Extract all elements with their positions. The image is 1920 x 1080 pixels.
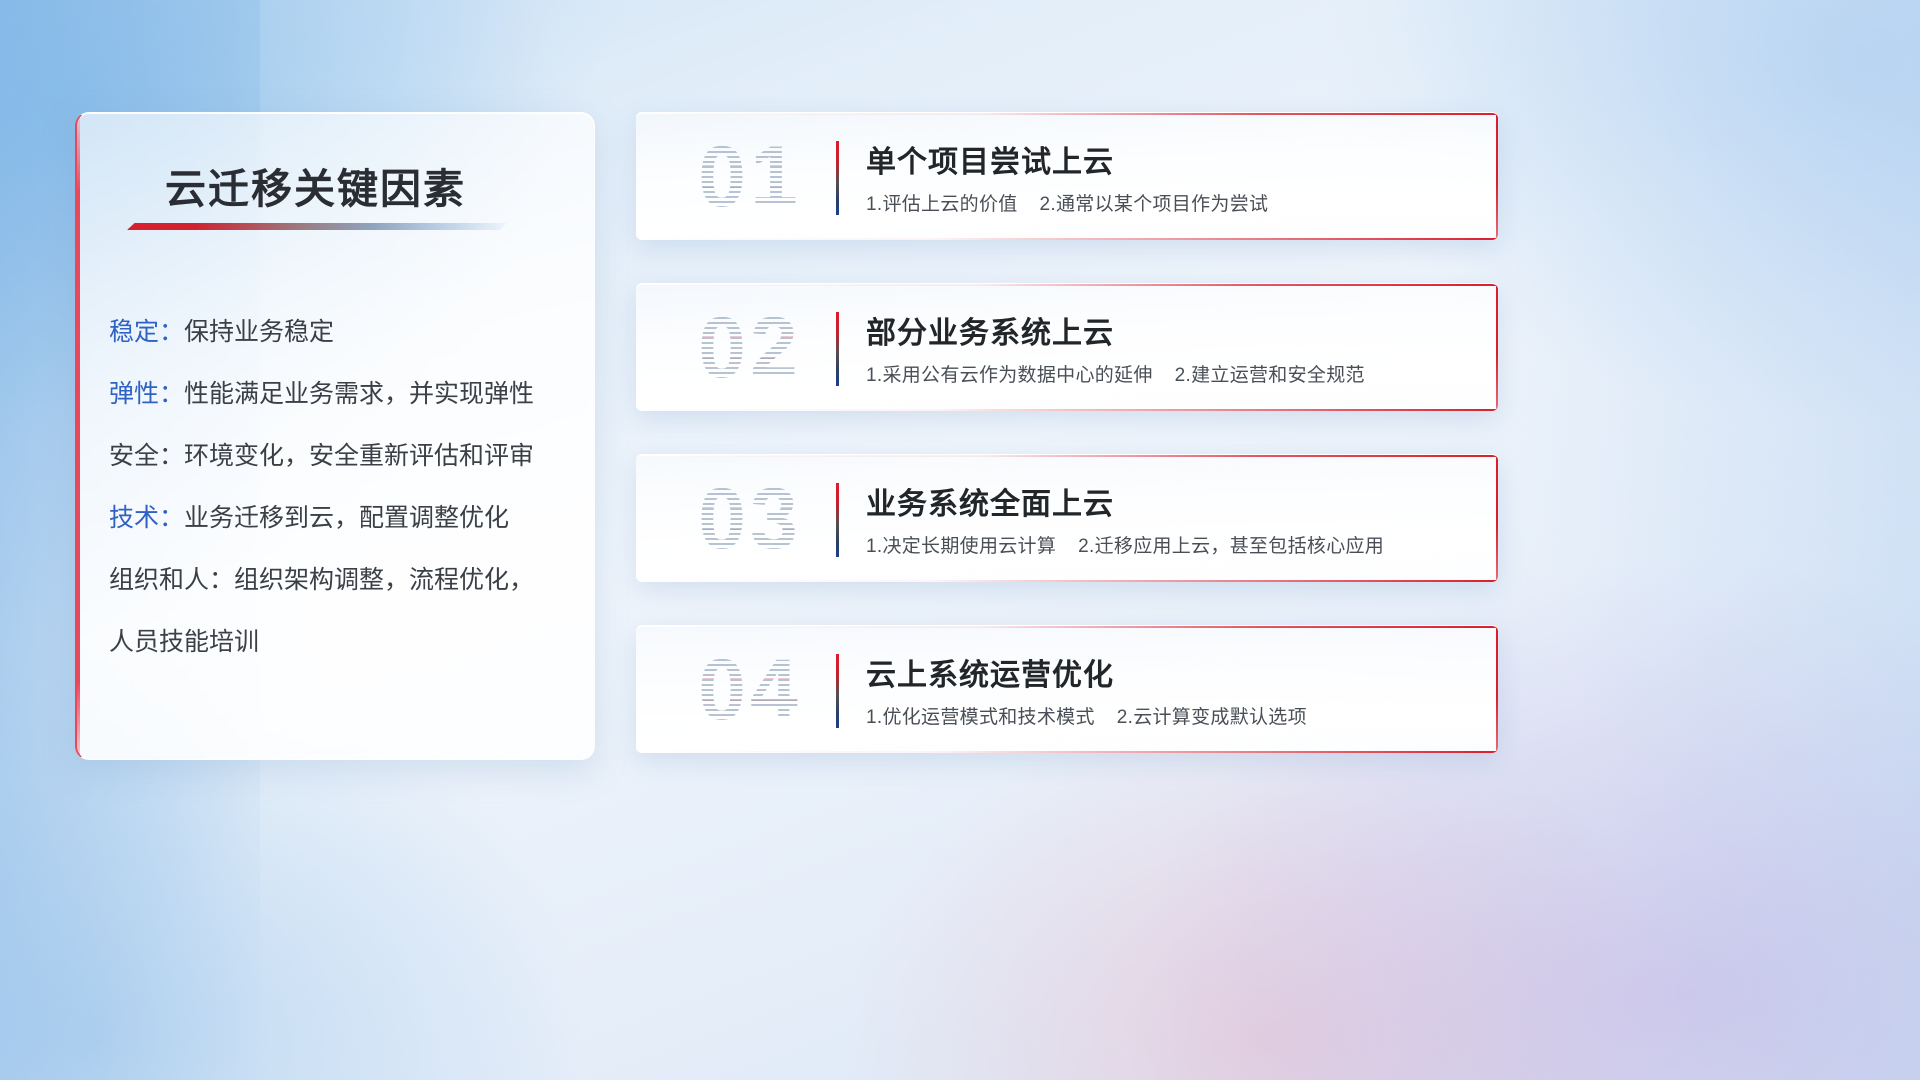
step-subtitle: 1.优化运营模式和技术模式2.云计算变成默认选项: [866, 702, 1307, 729]
page-title: 云迁移关键因素: [165, 155, 466, 215]
step-number: 03: [660, 463, 840, 575]
step-card-01[interactable]: 0101单个项目尝试上云1.评估上云的价值2.通常以某个项目作为尝试: [636, 112, 1498, 240]
card-accent-right-line: [1496, 113, 1498, 240]
factor-label: 稳定：: [109, 318, 184, 346]
step-point-2: 2.迁移应用上云，甚至包括核心应用: [1078, 536, 1384, 557]
step-card-02[interactable]: 0202部分业务系统上云1.采用公有云作为数据中心的延伸2.建立运营和安全规范: [636, 283, 1498, 411]
step-point-1: 1.优化运营模式和技术模式: [866, 707, 1095, 728]
factor-text: 业务迁移到云，配置调整优化: [184, 504, 509, 532]
factor-row: 稳定：保持业务稳定: [109, 301, 570, 363]
factor-row: 组织和人：组织架构调整，流程优化，: [109, 549, 570, 611]
card-accent-right-line: [1496, 284, 1498, 411]
step-point-2: 2.通常以某个项目作为尝试: [1040, 194, 1269, 215]
slide-root: 云迁移关键因素 稳定：保持业务稳定弹性：性能满足业务需求，并实现弹性安全：环境变…: [0, 0, 1920, 1080]
step-subtitle: 1.采用公有云作为数据中心的延伸2.建立运营和安全规范: [866, 360, 1365, 387]
factor-row: 技术：业务迁移到云，配置调整优化: [109, 487, 570, 549]
step-point-1: 1.采用公有云作为数据中心的延伸: [866, 365, 1153, 386]
step-card-04[interactable]: 0404云上系统运营优化1.优化运营模式和技术模式2.云计算变成默认选项: [636, 625, 1498, 753]
card-accent-right-line: [1496, 455, 1498, 582]
step-divider-line: [836, 483, 839, 557]
step-divider-line: [836, 141, 839, 215]
step-title: 云上系统运营优化: [866, 650, 1114, 694]
step-number: 02: [660, 292, 840, 404]
step-subtitle: 1.决定长期使用云计算2.迁移应用上云，甚至包括核心应用: [866, 531, 1384, 558]
card-accent-top-line: [636, 626, 1498, 628]
key-factors-panel: 云迁移关键因素 稳定：保持业务稳定弹性：性能满足业务需求，并实现弹性安全：环境变…: [75, 112, 595, 760]
factor-text: 环境变化，安全重新评估和评审: [184, 442, 534, 470]
factor-row: 人员技能培训: [109, 611, 570, 673]
card-accent-top-line: [636, 455, 1498, 457]
step-number: 01: [660, 121, 840, 233]
factor-text: 人员技能培训: [109, 628, 259, 656]
card-accent-right-line: [1496, 626, 1498, 753]
title-underline-gradient: [127, 223, 507, 230]
step-title: 部分业务系统上云: [866, 308, 1114, 352]
factor-text: 性能满足业务需求，并实现弹性: [184, 380, 534, 408]
card-accent-bottom-line: [636, 580, 1498, 582]
step-point-2: 2.建立运营和安全规范: [1175, 365, 1365, 386]
step-number: 04: [660, 634, 840, 746]
factor-list: 稳定：保持业务稳定弹性：性能满足业务需求，并实现弹性安全：环境变化，安全重新评估…: [109, 301, 570, 673]
factor-text: 保持业务稳定: [184, 318, 334, 346]
card-accent-bottom-line: [636, 409, 1498, 411]
factor-label: 弹性：: [109, 380, 184, 408]
step-card-03[interactable]: 0303业务系统全面上云1.决定长期使用云计算2.迁移应用上云，甚至包括核心应用: [636, 454, 1498, 582]
card-accent-bottom-line: [636, 751, 1498, 753]
card-accent-bottom-line: [636, 238, 1498, 240]
card-accent-top-line: [636, 113, 1498, 115]
factor-row: 弹性：性能满足业务需求，并实现弹性: [109, 363, 570, 425]
factor-label: 安全：: [109, 442, 184, 470]
factor-label: 组织和人：: [109, 566, 234, 594]
factor-row: 安全：环境变化，安全重新评估和评审: [109, 425, 570, 487]
factor-label: 技术：: [109, 504, 184, 532]
step-divider-line: [836, 312, 839, 386]
step-point-1: 1.评估上云的价值: [866, 194, 1018, 215]
factor-text: 组织架构调整，流程优化，: [234, 566, 534, 594]
card-accent-top-line: [636, 284, 1498, 286]
steps-list: 0101单个项目尝试上云1.评估上云的价值2.通常以某个项目作为尝试0202部分…: [636, 112, 1498, 796]
step-title: 单个项目尝试上云: [866, 137, 1114, 181]
step-subtitle: 1.评估上云的价值2.通常以某个项目作为尝试: [866, 189, 1268, 216]
step-point-1: 1.决定长期使用云计算: [866, 536, 1056, 557]
step-divider-line: [836, 654, 839, 728]
step-title: 业务系统全面上云: [866, 479, 1114, 523]
step-point-2: 2.云计算变成默认选项: [1117, 707, 1307, 728]
